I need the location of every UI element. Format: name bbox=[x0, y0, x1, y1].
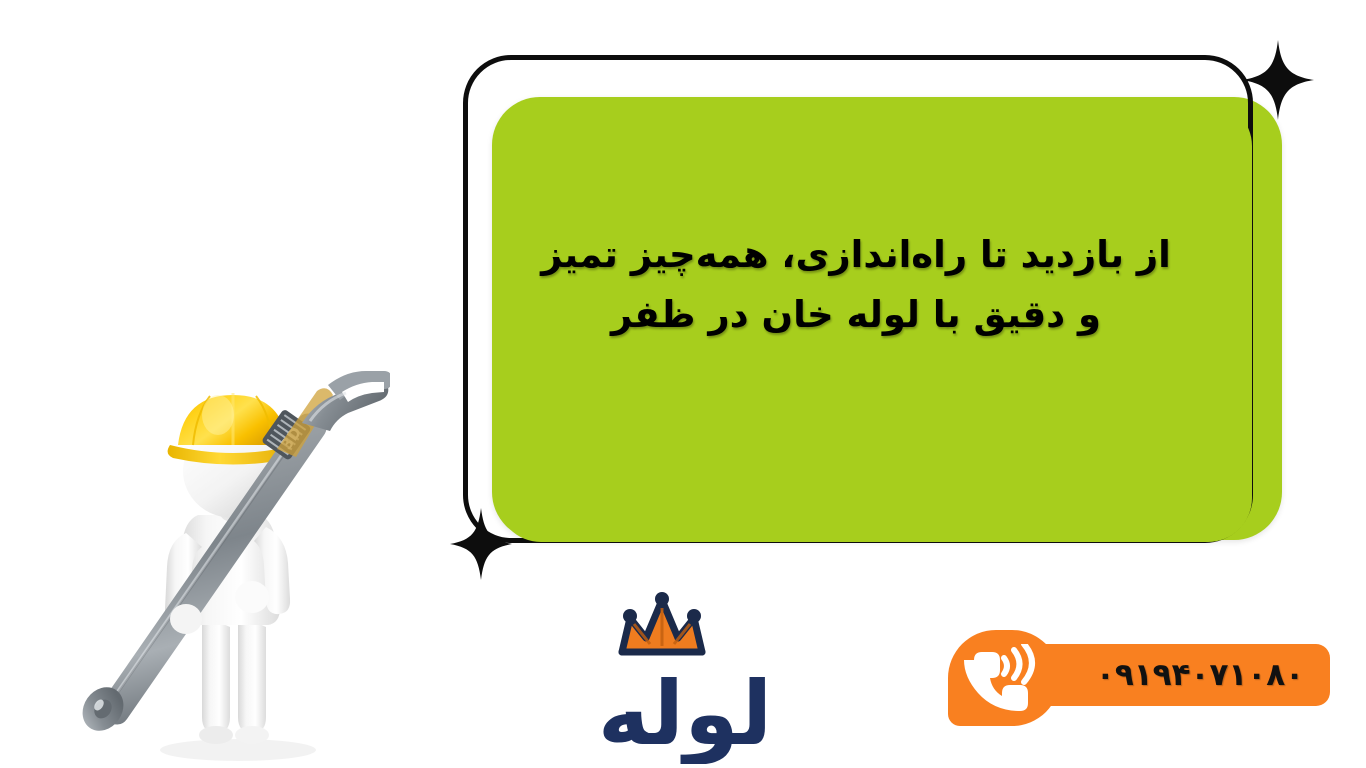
phone-contact-badge[interactable]: ۰۹۱۹۴۰۷۱۰۸۰ bbox=[948, 630, 1330, 726]
headline-line-1: از بازدید تا راه‌اندازی، همه‌چیز تمیز bbox=[497, 225, 1215, 285]
sparkle-top-right-icon bbox=[1242, 40, 1314, 120]
brand-logo: لوله bbox=[578, 592, 792, 764]
worker-with-wrench-illustration: 3D bbox=[70, 365, 390, 765]
promo-headline: از بازدید تا راه‌اندازی، همه‌چیز تمیز و … bbox=[497, 225, 1215, 345]
phone-call-icon bbox=[962, 644, 1036, 714]
crown-icon bbox=[622, 592, 702, 652]
phone-number[interactable]: ۰۹۱۹۴۰۷۱۰۸۰ bbox=[1076, 646, 1324, 704]
headline-line-2: و دقیق با لوله خان در ظفر bbox=[497, 285, 1215, 345]
sparkle-bottom-left-icon bbox=[450, 508, 512, 580]
brand-wordmark: لوله bbox=[598, 662, 773, 764]
banner-canvas: از بازدید تا راه‌اندازی، همه‌چیز تمیز و … bbox=[0, 0, 1366, 768]
